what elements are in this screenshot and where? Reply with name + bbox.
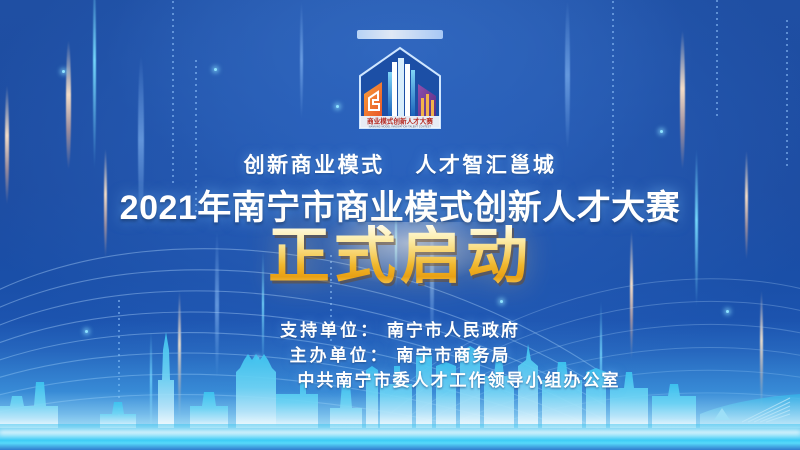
poster-canvas: 商业模式创新人才大赛 NANNING MODEL INNOVATION TALE… [0,0,800,450]
poster-subtitle-part1: 创新商业模式 [244,154,385,177]
organizer-label: 主办单位： [290,346,390,365]
organizer-value: 中共南宁市委人才工作领导小组办公室 [298,371,621,390]
organizer-value: 南宁市人民政府 [387,321,520,340]
organizer-row: 支持单位： 南宁市人民政府 [0,318,800,343]
organizer-row: 主办单位： 南宁市商务局 [0,343,800,368]
organizer-row: 中共南宁市委人才工作领导小组办公室 [0,368,800,393]
organizer-value: 南宁市商务局 [396,346,510,365]
organizer-label: 支持单位： [280,321,380,340]
poster-subtitle-part2: 人才智汇邕城 [415,154,556,177]
poster-headline: 正式启动 [0,225,800,288]
poster-subtitle: 创新商业模式 人才智汇邕城 [0,149,800,179]
organizer-list: 支持单位： 南宁市人民政府 主办单位： 南宁市商务局 中共南宁市委人才工作领导小… [0,318,800,393]
poster-text-block: 创新商业模式 人才智汇邕城 2021年南宁市商业模式创新人才大赛 正式启动 支持… [0,0,800,450]
